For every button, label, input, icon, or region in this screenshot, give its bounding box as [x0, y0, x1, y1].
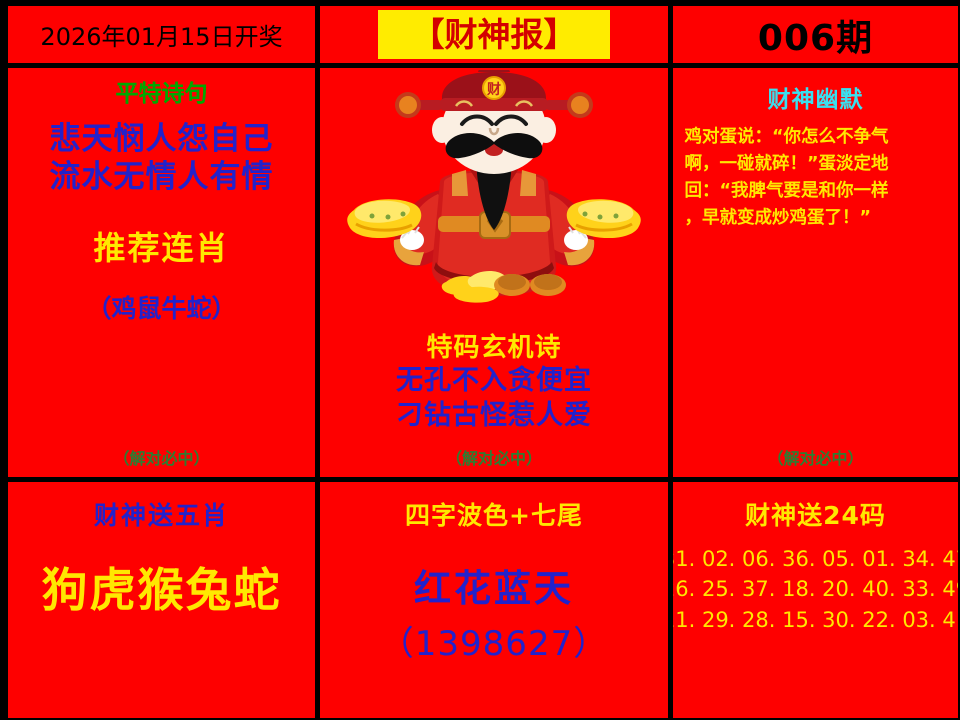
pingte-poem-heading: 平特诗句 [116, 82, 208, 107]
recommended-zodiac-heading: 推荐连肖 [93, 223, 229, 269]
humor-line-3: 回：“我脾气要是和你一样 [685, 178, 947, 205]
poster-title-text: 【财神报】 [412, 18, 577, 51]
lottery-poster: 2026年01月15日开奖 【财神报】 006期 平特诗句 悲天悯人怨自己 流水… [0, 0, 960, 720]
svg-text:财: 财 [486, 81, 501, 98]
pingte-poem-line-2: 流水无情人有情 [50, 159, 274, 197]
twentyfour-codes-list: 31. 02. 06. 36. 05. 01. 34. 47 26. 25. 3… [673, 544, 958, 635]
poster-grid: 2026年01月15日开奖 【财神报】 006期 平特诗句 悲天悯人怨自己 流水… [8, 6, 952, 712]
codes-row-3: 11. 29. 28. 15. 30. 22. 03. 41 [673, 605, 958, 635]
twentyfour-codes-cell: 财神送24码 31. 02. 06. 36. 05. 01. 34. 47 26… [673, 482, 958, 718]
humor-footnote: （解对必中） [673, 445, 958, 469]
five-zodiac-heading: 财神送五肖 [94, 496, 229, 532]
pingte-footnote: （解对必中） [8, 445, 315, 469]
draw-date-text: 2026年01月15日开奖 [40, 17, 282, 52]
codes-row-2: 26. 25. 37. 18. 20. 40. 33. 49 [673, 574, 958, 604]
recommended-zodiac-list: （鸡鼠牛蛇） [86, 289, 236, 325]
header-issue-cell: 006期 [673, 6, 958, 63]
title-yellow-box: 【财神报】 [378, 10, 610, 59]
twentyfour-codes-heading: 财神送24码 [745, 496, 886, 532]
seven-tails-values: （1398627） [380, 616, 608, 665]
five-zodiac-values: 狗虎猴兔蛇 [42, 554, 282, 620]
temacode-poem-line-1: 无孔不入贪便宜 [396, 364, 592, 399]
humor-cell: 财神幽默 鸡对蛋说：“你怎么不争气 啊，一碰就碎！”蛋淡定地 回：“我脾气要是和… [673, 68, 958, 477]
humor-line-4: ，早就变成炒鸡蛋了！” [685, 205, 947, 232]
humor-line-2: 啊，一碰就碎！”蛋淡定地 [685, 151, 947, 178]
humor-line-1: 鸡对蛋说：“你怎么不争气 [685, 124, 947, 151]
temacode-poem-heading: 特码玄机诗 [426, 327, 561, 364]
codes-row-1: 31. 02. 06. 36. 05. 01. 34. 47 [673, 544, 958, 574]
god-of-wealth-cell: 财 特码玄机诗 无孔不入贪便宜 刁钻古怪惹人爱 （解对必中） [320, 68, 668, 477]
god-of-wealth-illustration: 财 [320, 70, 668, 325]
humor-text: 鸡对蛋说：“你怎么不争气 啊，一碰就碎！”蛋淡定地 回：“我脾气要是和你一样 ，… [685, 124, 947, 233]
header-title-cell: 【财神报】 [320, 6, 668, 63]
temacode-footnote: （解对必中） [320, 445, 668, 469]
five-zodiac-cell: 财神送五肖 狗虎猴兔蛇 [8, 482, 315, 718]
temacode-poem-line-2: 刁钻古怪惹人爱 [396, 399, 592, 434]
four-char-color-cell: 四字波色+七尾 红花蓝天 （1398627） [320, 482, 668, 718]
issue-number-text: 006期 [758, 9, 873, 61]
humor-heading: 财神幽默 [768, 80, 864, 114]
pingte-poem-cell: 平特诗句 悲天悯人怨自己 流水无情人有情 推荐连肖 （鸡鼠牛蛇） （解对必中） [8, 68, 315, 477]
four-char-color-heading: 四字波色+七尾 [405, 496, 583, 532]
four-char-color-phrase: 红花蓝天 [414, 558, 574, 612]
header-date-cell: 2026年01月15日开奖 [8, 6, 315, 63]
pingte-poem-line-1: 悲天悯人怨自己 [50, 121, 274, 159]
